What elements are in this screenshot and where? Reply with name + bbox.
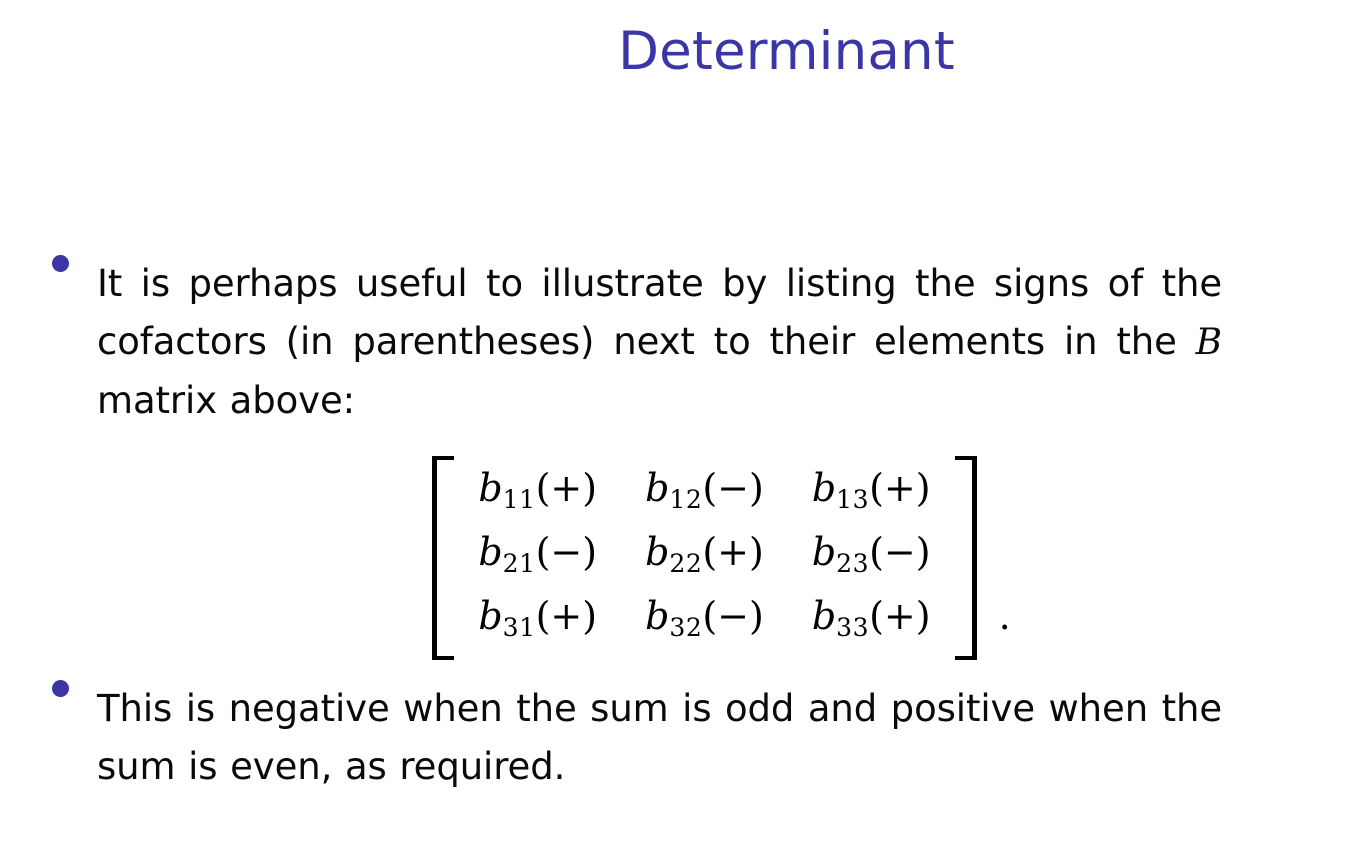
left-bracket-icon bbox=[432, 456, 454, 660]
matrix-cell-r3c2: b32(−) bbox=[645, 592, 764, 652]
matrix-symbol-B: B bbox=[1196, 322, 1222, 363]
cell-symbol: b bbox=[645, 594, 669, 638]
cell-sign: (−) bbox=[869, 530, 931, 574]
cell-symbol: b bbox=[812, 530, 836, 574]
list-item: This is negative when the sum is odd and… bbox=[0, 680, 1358, 796]
cell-symbol: b bbox=[478, 466, 502, 510]
cell-subscript: 21 bbox=[503, 549, 536, 578]
presentation-slide: Determinant It is perhaps useful to illu… bbox=[0, 0, 1358, 847]
cell-sign: (+) bbox=[536, 466, 598, 510]
cell-sign: (−) bbox=[702, 594, 764, 638]
cell-symbol: b bbox=[812, 594, 836, 638]
cell-subscript: 31 bbox=[503, 613, 536, 642]
bullet-dot-icon bbox=[52, 255, 69, 272]
cell-sign: (+) bbox=[869, 594, 931, 638]
bullet-1-text: It is perhaps useful to illustrate by li… bbox=[97, 255, 1222, 430]
cell-subscript: 11 bbox=[503, 485, 536, 514]
matrix-cell-r2c2: b22(+) bbox=[645, 528, 764, 588]
matrix-cell-r2c3: b23(−) bbox=[812, 528, 931, 588]
slide-body: It is perhaps useful to illustrate by li… bbox=[0, 255, 1358, 796]
matrix-cell-r1c2: b12(−) bbox=[645, 464, 764, 524]
cell-subscript: 23 bbox=[836, 549, 869, 578]
cell-symbol: b bbox=[812, 466, 836, 510]
cell-sign: (−) bbox=[702, 466, 764, 510]
matrix: b11(+) b12(−) b13(+) b21(−) b22(+) b23(−… bbox=[432, 456, 976, 660]
cell-symbol: b bbox=[478, 530, 502, 574]
cell-subscript: 33 bbox=[836, 613, 869, 642]
matrix-cell-r1c1: b11(+) bbox=[478, 464, 597, 524]
cell-symbol: b bbox=[478, 594, 502, 638]
cell-symbol: b bbox=[645, 466, 669, 510]
right-bracket-icon bbox=[955, 456, 977, 660]
bullet-1-text-part-2: matrix above: bbox=[97, 379, 355, 422]
cell-sign: (+) bbox=[702, 530, 764, 574]
equation-period: . bbox=[977, 594, 1011, 660]
bullet-1-text-part-1: It is perhaps useful to illustrate by li… bbox=[97, 262, 1222, 363]
cell-sign: (−) bbox=[536, 530, 598, 574]
cell-sign: (+) bbox=[869, 466, 931, 510]
cell-subscript: 12 bbox=[669, 485, 702, 514]
list-item: It is perhaps useful to illustrate by li… bbox=[0, 255, 1358, 660]
page-title: Determinant bbox=[0, 22, 1358, 83]
cell-sign: (+) bbox=[536, 594, 598, 638]
display-equation: b11(+) b12(−) b13(+) b21(−) b22(+) b23(−… bbox=[97, 456, 1358, 660]
matrix-grid: b11(+) b12(−) b13(+) b21(−) b22(+) b23(−… bbox=[454, 456, 954, 660]
bullet-dot-icon bbox=[52, 680, 69, 697]
cell-symbol: b bbox=[645, 530, 669, 574]
bullet-2-text: This is negative when the sum is odd and… bbox=[97, 680, 1222, 796]
cell-subscript: 32 bbox=[669, 613, 702, 642]
matrix-cell-r1c3: b13(+) bbox=[812, 464, 931, 524]
matrix-cell-r2c1: b21(−) bbox=[478, 528, 597, 588]
cell-subscript: 22 bbox=[669, 549, 702, 578]
matrix-cell-r3c1: b31(+) bbox=[478, 592, 597, 652]
matrix-cell-r3c3: b33(+) bbox=[812, 592, 931, 652]
cell-subscript: 13 bbox=[836, 485, 869, 514]
